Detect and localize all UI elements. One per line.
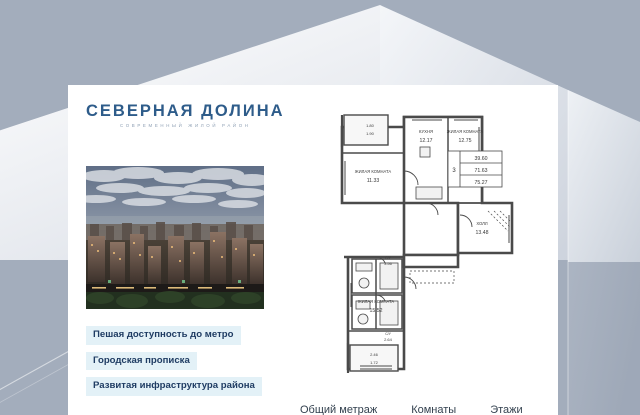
brand-title: СЕВЕРНАЯ ДОЛИНА <box>86 103 285 120</box>
stat-label-floors: Этажи <box>490 404 522 415</box>
room-label-living-1: ЖИЛАЯ КОМНАТА <box>355 169 392 174</box>
residential-district-aerial-photo <box>86 166 264 309</box>
brand-subtitle: СОВРЕМЕННЫЙ ЖИЛОЙ РАЙОН <box>86 123 285 128</box>
feature-chip-registration[interactable]: Городская прописка <box>86 352 197 371</box>
balcony-2-depth: 1.72 <box>370 360 379 365</box>
stats-bar: Общий метраж Комнаты Этажи <box>300 404 523 415</box>
room-area-bath-1: 3.56 <box>384 261 393 266</box>
room-area-living-1: 11.33 <box>367 178 380 184</box>
apartment-offer-card: СЕВЕРНАЯ ДОЛИНА СОВРЕМЕННЫЙ ЖИЛОЙ РАЙОН <box>68 85 558 415</box>
room-label-bath-1: С/У <box>385 256 391 260</box>
brand-logo: СЕВЕРНАЯ ДОЛИНА СОВРЕМЕННЫЙ ЖИЛОЙ РАЙОН <box>86 103 285 128</box>
feature-chip-infrastructure[interactable]: Развитая инфраструктура района <box>86 377 262 396</box>
room-area-kitchen: 12.17 <box>420 138 433 144</box>
room-label-hall: ХОЛЛ <box>476 221 488 226</box>
room-label-living-2: ЖИЛАЯ КОМНАТА <box>447 129 484 134</box>
stat-label-total-area: Общий метраж <box>300 404 377 415</box>
room-area-bath-2: 2.64 <box>384 337 393 342</box>
room-area-hall: 13.48 <box>476 230 489 236</box>
feature-chip-metro[interactable]: Пешая доступность до метро <box>86 326 241 345</box>
apartment-floor-plan[interactable]: ЖИЛАЯ КОМНАТА 11.33 КУХНЯ 12.17 ЖИЛАЯ КО… <box>330 107 520 392</box>
room-label-living-3: ЖИЛАЯ КОМНАТА <box>358 299 395 304</box>
balcony-1-width: 1.80 <box>366 123 375 128</box>
balcony-1-depth: 1.90 <box>366 131 375 136</box>
balcony-2-width: 2.46 <box>370 352 379 357</box>
room-area-living-2: 12.75 <box>459 138 472 144</box>
stat-label-rooms: Комнаты <box>411 404 456 415</box>
feature-list: Пешая доступность до метро Городская про… <box>86 326 262 396</box>
room-label-kitchen: КУХНЯ <box>419 129 433 134</box>
room-area-living-3: 15.52 <box>370 308 383 314</box>
summary-usable-area: 71.63 <box>475 168 488 174</box>
summary-total-area: 75.27 <box>475 180 488 186</box>
room-label-bath-2: С/У <box>385 332 391 336</box>
summary-living-area: 39.60 <box>475 156 488 162</box>
